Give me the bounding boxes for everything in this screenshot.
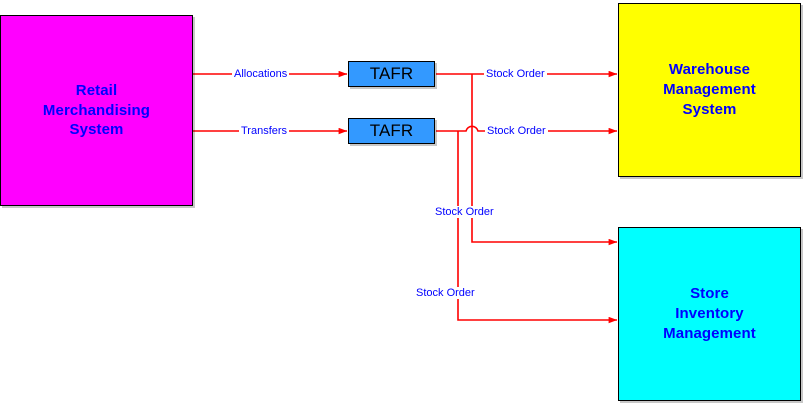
node-rms-label: Retail Merchandising System	[43, 81, 150, 140]
node-rms-line2: Merchandising	[43, 101, 150, 121]
node-sim-label: Store Inventory Management	[663, 284, 756, 343]
node-wms-line2: Management	[663, 80, 756, 100]
node-wms-label: Warehouse Management System	[663, 60, 756, 119]
node-sim-line1: Store	[663, 284, 756, 304]
edge-label-stock-order-tafr2-wms: Stock Order	[485, 125, 548, 137]
node-tafr2-label: TAFR	[370, 120, 414, 142]
node-store-inventory-management[interactable]: Store Inventory Management	[618, 227, 801, 401]
diagram-canvas: Retail Merchandising System TAFR TAFR Wa…	[0, 0, 805, 403]
node-wms-line1: Warehouse	[663, 60, 756, 80]
edge-label-stock-order-tafr2-sim: Stock Order	[414, 287, 477, 299]
node-warehouse-management-system[interactable]: Warehouse Management System	[618, 3, 801, 177]
edge-label-stock-order-tafr1-wms: Stock Order	[484, 68, 547, 80]
node-rms-line1: Retail	[43, 81, 150, 101]
connector-tafr2-to-sim	[458, 131, 617, 320]
node-tafr-allocations[interactable]: TAFR	[348, 61, 435, 87]
node-retail-merchandising-system[interactable]: Retail Merchandising System	[0, 15, 193, 206]
edge-label-stock-order-tafr1-sim: Stock Order	[433, 206, 496, 218]
edge-label-allocations: Allocations	[232, 68, 289, 80]
node-wms-line3: System	[663, 100, 756, 120]
node-rms-line3: System	[43, 120, 150, 140]
edge-label-transfers: Transfers	[239, 125, 289, 137]
node-sim-line3: Management	[663, 324, 756, 344]
node-sim-line2: Inventory	[663, 304, 756, 324]
node-tafr-transfers[interactable]: TAFR	[348, 118, 435, 144]
node-tafr1-label: TAFR	[370, 63, 414, 85]
